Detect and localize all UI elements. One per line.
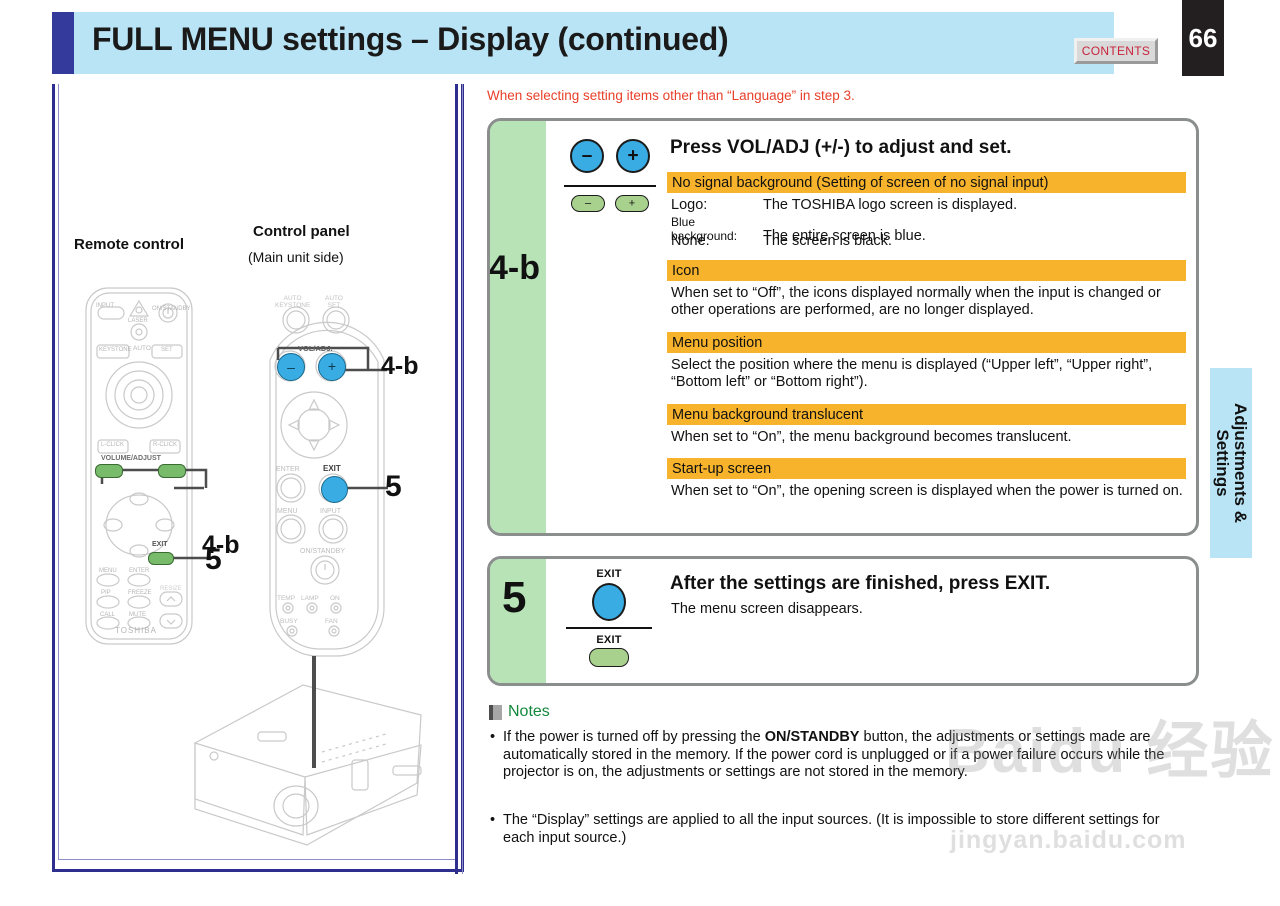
remote-volume-minus-button[interactable] [95, 464, 123, 478]
vol-minus-circle-button[interactable]: – [570, 139, 604, 173]
note-item-2: • The “Display” settings are applied to … [503, 812, 1183, 847]
contents-button[interactable]: CONTENTS [1074, 38, 1158, 64]
setting-body-icon: When set to “Off”, the icons displayed n… [671, 285, 1184, 319]
panel-auto-set-label: AUTO SET [325, 296, 343, 310]
vol-plus-circle-button[interactable]: + [616, 139, 650, 173]
step-5-subtext: The menu screen disappears. [671, 601, 863, 617]
remote-rclick-label: R-CLICK [153, 442, 177, 448]
section-tab-adjustments-settings[interactable]: Adjustments &Settings [1210, 368, 1252, 558]
remote-resize-label: RESIZE [160, 586, 182, 592]
panel-fan-label: FAN [325, 618, 338, 625]
remote-call-label: CALL [100, 612, 115, 618]
remote-menu-label: MENU [99, 568, 117, 574]
vol-minus-pill-button[interactable]: – [571, 195, 605, 212]
vol-minus-pill-symbol: – [572, 198, 604, 209]
step-4b-number: 4-b [489, 249, 540, 288]
remote-laser-label: LASER [128, 318, 148, 324]
step-4b-heading: Press VOL/ADJ (+/-) to adjust and set. [670, 137, 1012, 159]
step-4b-box: 4-b – + – + Press VOL/ADJ (+/-) to adjus… [487, 118, 1199, 536]
remote-auto-label: AUTO [133, 345, 151, 352]
page-number-badge: 66 [1182, 0, 1224, 76]
setting-body-menu-background-translucent: When set to “On”, the menu background be… [671, 429, 1184, 446]
intro-note: When selecting setting items other than … [487, 88, 855, 103]
panel-enter-label: ENTER [276, 466, 300, 473]
vol-minus-symbol: – [572, 147, 602, 166]
panel-busy-label: BUSY [280, 618, 298, 625]
setting-row-logo: Logo:The TOSHIBA logo screen is displaye… [671, 197, 1186, 214]
remote-onstandby-label: ON/STANDBY [152, 306, 191, 312]
remote-set-label: SET [161, 347, 173, 353]
exit-circle-button[interactable] [592, 583, 626, 621]
notes-title: Notes [508, 703, 550, 721]
panel-input-label: INPUT [320, 508, 341, 515]
note-text-2: The “Display” settings are applied to al… [503, 812, 1160, 846]
section-tab-label: Adjustments &Settings [1213, 403, 1249, 523]
panel-auto-keystone-label: AUTO KEYSTONE [275, 296, 310, 310]
setting-row-none: None:The screen is black. [671, 233, 1186, 250]
panel-menu-label: MENU [277, 508, 298, 515]
setting-title-icon: Icon [667, 260, 1186, 281]
step-5-exit-label-top: EXIT [566, 568, 652, 580]
remote-mute-label: MUTE [129, 612, 146, 618]
panel-vol-plus-button[interactable]: + [318, 353, 346, 381]
note-item-1: • If the power is turned off by pressing… [503, 729, 1183, 782]
remote-keystone-label: KEYSTONE [99, 347, 132, 353]
panel-temp-label: TEMP [277, 595, 295, 602]
callout-panel-5: 5 [385, 470, 402, 504]
setting-title-start-up-screen: Start-up screen [667, 458, 1186, 479]
setting-body-menu-position: Select the position where the menu is di… [671, 357, 1188, 391]
remote-brand-label: TOSHIBA [115, 626, 157, 635]
step-5-heading: After the settings are finished, press E… [670, 573, 1050, 595]
vol-plus-pill-symbol: + [616, 198, 648, 209]
setting-title-menu-position: Menu position [667, 332, 1186, 353]
callout-remote-5: 5 [205, 543, 222, 577]
note-bullet-1: • [490, 729, 495, 747]
panel-on-label: ON [330, 595, 340, 602]
panel-exit-label: EXIT [323, 464, 341, 473]
remote-control-label: Remote control [74, 236, 184, 253]
callout-panel-4b: 4-b [381, 352, 419, 381]
note-bullet-2: • [490, 812, 495, 830]
panel-onstandby-label: ON/STANDBY [300, 548, 345, 555]
panel-lamp-label: LAMP [301, 595, 319, 602]
remote-exit-label: EXIT [152, 541, 168, 548]
column-divider [455, 84, 465, 874]
step-5-exit-label-bottom: EXIT [566, 634, 652, 646]
remote-lclick-label: L-CLICK [101, 442, 124, 448]
panel-exit-button[interactable] [321, 476, 348, 503]
remote-input-label: INPUT [96, 303, 114, 309]
button-divider [564, 185, 656, 187]
remote-enter-label: ENTER [129, 568, 149, 574]
notes-icon [489, 705, 502, 720]
step-5-box: 5 EXIT EXIT After the settings are finis… [487, 556, 1199, 686]
page-title: FULL MENU settings – Display (continued) [92, 21, 728, 58]
setting-title-no-signal-background: No signal background (Setting of screen … [667, 172, 1186, 193]
step-4b-accent [490, 121, 546, 533]
step-5-number: 5 [502, 573, 526, 623]
header-accent-block [52, 12, 74, 74]
setting-title-menu-background-translucent: Menu background translucent [667, 404, 1186, 425]
step-5-button-divider [566, 627, 652, 629]
remote-exit-button[interactable] [148, 552, 174, 565]
setting-body-start-up-screen: When set to “On”, the opening screen is … [671, 483, 1184, 500]
exit-pill-button[interactable] [589, 648, 629, 667]
vol-plus-pill-button[interactable]: + [615, 195, 649, 212]
remote-pip-label: PIP [101, 590, 111, 596]
remote-volume-adjust-label: VOLUME/ADJUST [101, 455, 161, 462]
vol-plus-symbol: + [618, 147, 648, 166]
panel-vol-adj-label: VOL/ADJ. [298, 344, 333, 353]
contents-button-label: CONTENTS [1082, 44, 1150, 58]
control-panel-sublabel: (Main unit side) [248, 249, 344, 265]
note-text-1: If the power is turned off by pressing t… [503, 729, 1164, 780]
remote-volume-plus-button[interactable] [158, 464, 186, 478]
control-panel-label: Control panel [253, 223, 350, 240]
remote-freeze-label: FREEZE [128, 590, 152, 596]
panel-vol-minus-button[interactable]: – [277, 353, 305, 381]
